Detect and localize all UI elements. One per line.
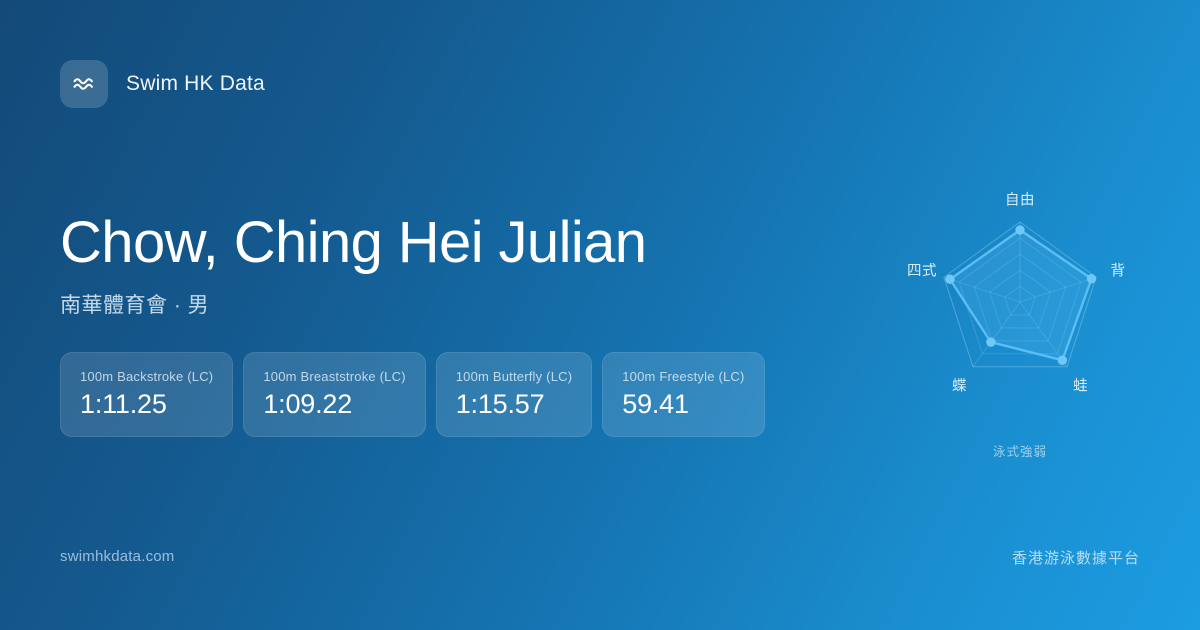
radar-chart-caption: 泳式強弱: [870, 441, 1170, 460]
hero-section: Chow, Ching Hei Julian 南華體育會 · 男: [60, 212, 860, 319]
stat-card[interactable]: 100m Breaststroke (LC) 1:09.22: [243, 352, 425, 437]
stat-card-label: 100m Backstroke (LC): [80, 369, 213, 384]
stat-card[interactable]: 100m Backstroke (LC) 1:11.25: [60, 352, 233, 437]
stat-card[interactable]: 100m Butterfly (LC) 1:15.57: [436, 352, 593, 437]
footer-site-url[interactable]: swimhkdata.com: [60, 548, 175, 565]
radar-axis-label-freestyle: 自由: [1005, 189, 1035, 210]
footer-tagline: 香港游泳數據平台: [1012, 547, 1140, 568]
stat-card-label: 100m Butterfly (LC): [456, 369, 573, 384]
radar-axis-label-backstroke: 背: [1110, 260, 1125, 281]
page-title: Chow, Ching Hei Julian: [60, 212, 860, 275]
stat-card-value: 1:09.22: [263, 391, 405, 418]
brand-name: Swim HK Data: [126, 72, 265, 96]
radar-axis-label-breaststroke: 蛙: [1073, 375, 1088, 396]
athlete-meta: 南華體育會 · 男: [60, 289, 860, 319]
stat-card-label: 100m Breaststroke (LC): [263, 369, 405, 384]
radar-chart: 自由 背 蛙 蝶 四式 泳式強弱: [870, 160, 1170, 480]
stat-card-value: 1:11.25: [80, 391, 213, 418]
radar-axis-label-butterfly: 蝶: [952, 375, 967, 396]
stat-card-list: 100m Backstroke (LC) 1:11.25 100m Breast…: [60, 352, 765, 437]
stat-card-label: 100m Freestyle (LC): [622, 369, 744, 384]
radar-axis-label-medley: 四式: [907, 260, 937, 281]
stat-card-value: 59.41: [622, 391, 744, 418]
waves-icon: [60, 60, 108, 108]
stat-card-value: 1:15.57: [456, 391, 573, 418]
brand-header[interactable]: Swim HK Data: [60, 60, 265, 108]
stat-card[interactable]: 100m Freestyle (LC) 59.41: [602, 352, 764, 437]
